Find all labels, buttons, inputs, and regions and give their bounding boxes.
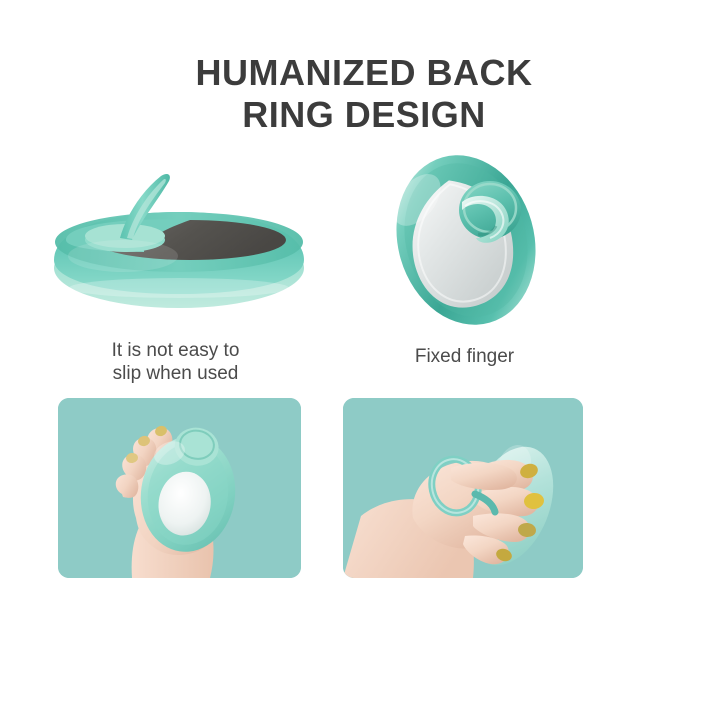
device-back-view-svg (366, 148, 566, 333)
page-title: HUMANIZED BACK RING DESIGN (0, 52, 728, 136)
device-side-view-illustration (48, 168, 310, 318)
page-title-line-1: HUMANIZED BACK (0, 52, 728, 94)
caption-line-1: It is not easy to (48, 339, 303, 362)
device-side-view-svg (48, 168, 310, 318)
photo-hand-holding-device (58, 398, 301, 578)
product-feature-graphic: HUMANIZED BACK RING DESIGN (0, 0, 728, 709)
hand-holding-device-svg (58, 398, 301, 578)
caption-line-2: slip when used (48, 362, 303, 385)
feature-caption-fixed-finger: Fixed finger (343, 345, 586, 368)
caption-line-1: Fixed finger (343, 345, 586, 368)
photo-finger-through-ring (343, 398, 583, 578)
page-title-line-2: RING DESIGN (0, 94, 728, 136)
finger-through-ring-svg (343, 398, 583, 578)
device-back-view-illustration (366, 148, 566, 333)
feature-caption-anti-slip: It is not easy to slip when used (48, 339, 303, 385)
